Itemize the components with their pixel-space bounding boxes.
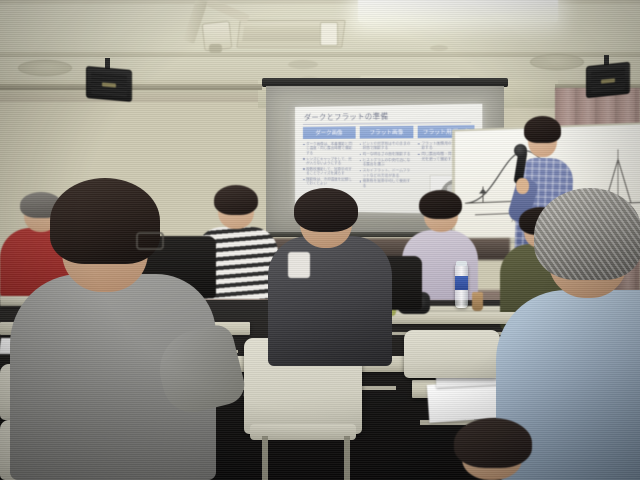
gray-sweater-hair bbox=[50, 178, 160, 264]
ceiling-speaker-right bbox=[530, 54, 584, 70]
column-header-dark: ダーク画像 bbox=[303, 126, 355, 139]
microphone-head bbox=[514, 144, 527, 157]
slide-column-flat: フラット画像 ピントや光学系はそのままの状態で撮影する 均一な明るさの面を撮影す… bbox=[359, 126, 413, 190]
column-header-flat: フラット画像 bbox=[359, 126, 413, 139]
water-bottle-label bbox=[455, 276, 468, 290]
water-bottle-cap bbox=[456, 261, 467, 266]
light-blue-shirt-hair bbox=[534, 188, 640, 280]
bullet-text: 複数枚撮影して、加算平均することでノイズを減らす bbox=[306, 167, 355, 176]
vent-control-panel bbox=[320, 22, 338, 46]
column-bullets-flat: ピントや光学系はそのままの状態で撮影する 均一な明るさの面を撮影する ヒストグラ… bbox=[359, 141, 413, 188]
front-head-hair bbox=[454, 418, 532, 468]
presenter-hair bbox=[524, 116, 561, 143]
slide-column-dark: ダーク画像 ダーク画像は、本番撮影と同じ温度・同じ露出時間で撮影する レンズにキ… bbox=[303, 126, 355, 189]
paper-cup bbox=[472, 292, 483, 311]
dark-suit-collar bbox=[288, 252, 310, 278]
chair-back-right bbox=[404, 330, 500, 378]
ceiling-speaker-left bbox=[18, 60, 72, 76]
chair-leg-center-left bbox=[262, 436, 268, 480]
bullet-text: 複数枚を加算平均して使用する bbox=[363, 179, 414, 188]
bullet-text: 撮影後は、冷却温度を記録しておくとよい bbox=[306, 177, 355, 186]
chair-leg-center-right bbox=[344, 436, 350, 480]
lavender-shirt-hair bbox=[419, 190, 462, 219]
bullet-text: ダーク画像は、本番撮影と同じ温度・同じ露出時間で撮影する bbox=[306, 142, 355, 156]
bullet-text: 均一な明るさの面を撮影する bbox=[363, 152, 411, 157]
eyeglasses bbox=[136, 232, 164, 250]
striped-shirt-hair bbox=[214, 185, 258, 215]
column-bullets-dark: ダーク画像は、本番撮影と同じ温度・同じ露出時間で撮影する レンズにキャップをして… bbox=[303, 142, 355, 187]
bullet-text: レンズにキャップをして、光が入らないようにする bbox=[306, 157, 355, 166]
presenter-hand bbox=[516, 178, 529, 194]
wall-speaker-left bbox=[86, 66, 132, 102]
bullet-text: ピントや光学系はそのままの状態で撮影する bbox=[363, 141, 414, 150]
lecture-room-photo: ダークとフラットの準備 ダーク画像 ダーク画像は、本番撮影と同じ温度・同じ露出時… bbox=[0, 0, 640, 480]
slide-title: ダークとフラットの準備 bbox=[304, 112, 388, 123]
projector-lens bbox=[209, 44, 222, 53]
bullet-text: スカイフラット、ドームフラットなどの方法がある bbox=[363, 168, 414, 177]
ceiling-dome-vent bbox=[288, 60, 318, 69]
fluorescent-light-panel bbox=[358, 0, 558, 22]
ceiling-sensor bbox=[430, 45, 448, 51]
dark-suit-hair bbox=[294, 188, 358, 232]
dark-suit-body bbox=[268, 236, 392, 366]
bullet-text: ヒストグラムの中央付近になる露出を選ぶ bbox=[363, 158, 414, 167]
wall-speaker-right bbox=[586, 62, 630, 99]
